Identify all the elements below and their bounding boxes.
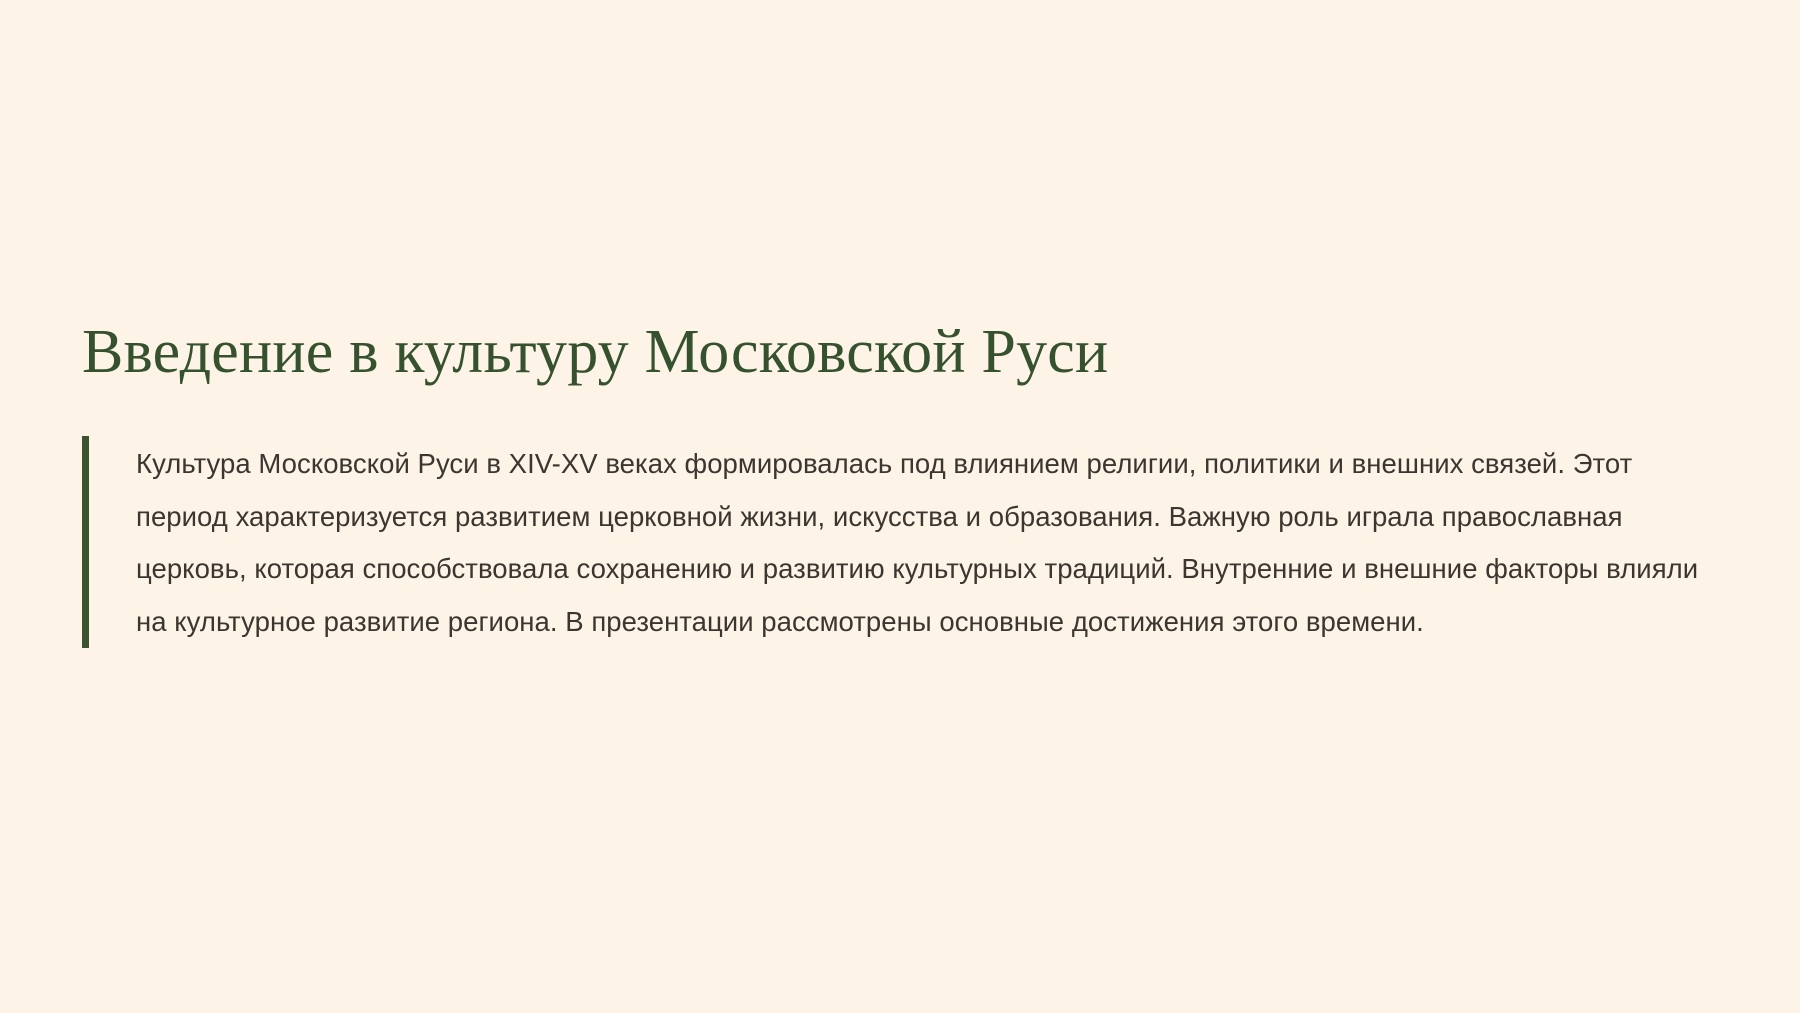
slide-title: Введение в культуру Московской Руси (82, 318, 1722, 387)
accent-bar (82, 436, 89, 648)
body-paragraph: Культура Московской Руси в XIV-XV веках … (136, 438, 1722, 648)
paragraph-container: Культура Московской Руси в XIV-XV веках … (89, 436, 1722, 648)
highlighted-paragraph-block: Культура Московской Руси в XIV-XV веках … (82, 436, 1722, 648)
slide-content-area: Введение в культуру Московской Руси Куль… (82, 318, 1722, 648)
presentation-slide: Введение в культуру Московской Руси Куль… (0, 0, 1800, 1013)
